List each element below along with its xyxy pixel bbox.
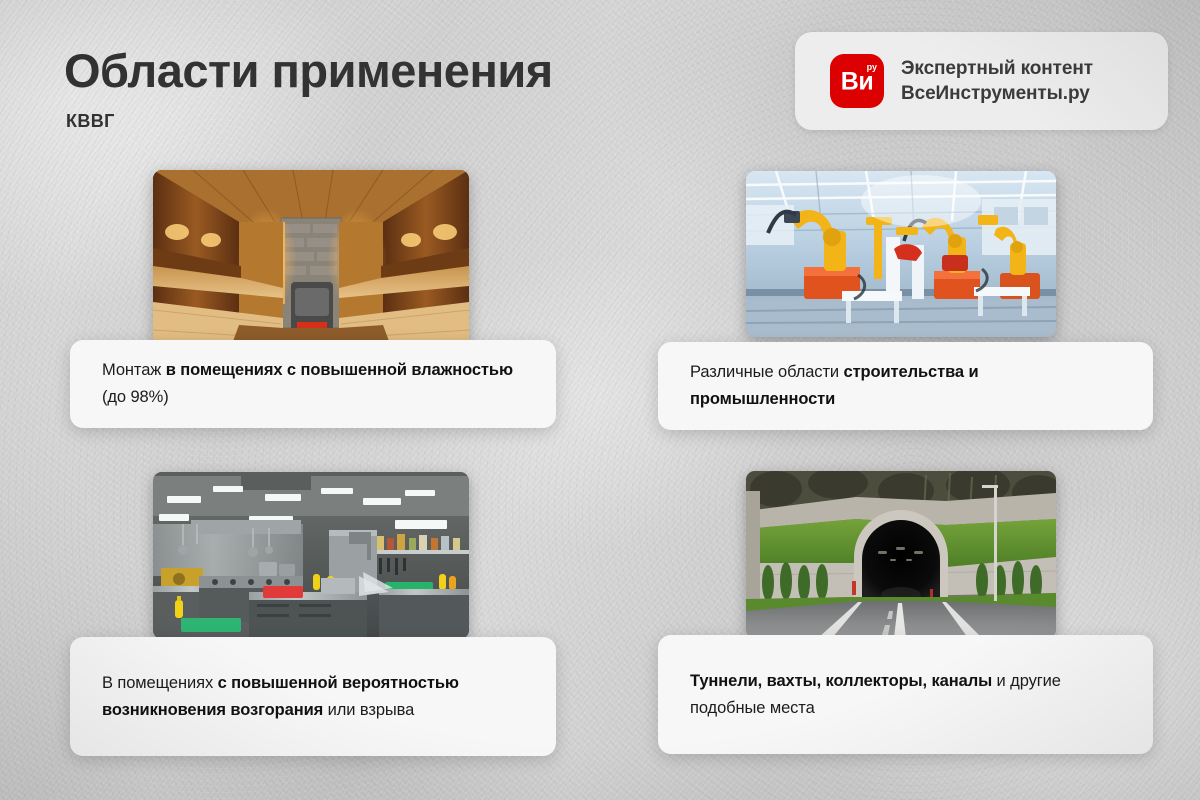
info-card-text: Монтаж в помещениях с повышенной влажнос…: [102, 357, 526, 410]
logo-wordmark: Ви: [830, 68, 884, 97]
card-text-prefix: Различные области: [690, 363, 844, 381]
brand-line-1: Экспертный контент: [901, 58, 1093, 80]
road-tunnel-entrance-photo: [746, 471, 1056, 638]
card-text-suffix: или взрыва: [323, 701, 414, 719]
card-text-bold: в помещениях с повышенной влажностью: [166, 361, 513, 379]
info-card-text: Туннели, вахты, коллекторы, каналы и дру…: [690, 668, 1123, 721]
info-card-humidity: Монтаж в помещениях с повышенной влажнос…: [70, 340, 556, 428]
info-card-text: Различные области строительства и промыш…: [690, 359, 1123, 412]
brand-line-2: ВсеИнструменты.ру: [901, 83, 1093, 105]
vseinstrumenty-logo-icon: ру Ви: [830, 54, 884, 108]
brand-badge: ру Ви Экспертный контент ВсеИнструменты.…: [795, 32, 1168, 130]
card-text-suffix: (до 98%): [102, 388, 169, 406]
card-text-prefix: В помещениях: [102, 674, 218, 692]
card-text-bold: Туннели, вахты, коллекторы, каналы: [690, 672, 992, 690]
info-card-construction-industry: Различные области строительства и промыш…: [658, 342, 1153, 430]
industrial-robot-assembly-line-photo: [746, 171, 1056, 337]
card-text-prefix: Монтаж: [102, 361, 166, 379]
info-card-text: В помещениях с повышенной вероятностью в…: [102, 670, 526, 723]
info-card-tunnels: Туннели, вахты, коллекторы, каналы и дру…: [658, 635, 1153, 754]
page-title: Области применения: [64, 46, 553, 96]
commercial-kitchen-photo: [153, 472, 469, 639]
page-subtitle: КВВГ: [66, 111, 115, 132]
brand-badge-text: Экспертный контент ВсеИнструменты.ру: [901, 58, 1093, 105]
info-card-fire-explosion-risk: В помещениях с повышенной вероятностью в…: [70, 637, 556, 756]
sauna-interior-photo: [153, 170, 469, 352]
